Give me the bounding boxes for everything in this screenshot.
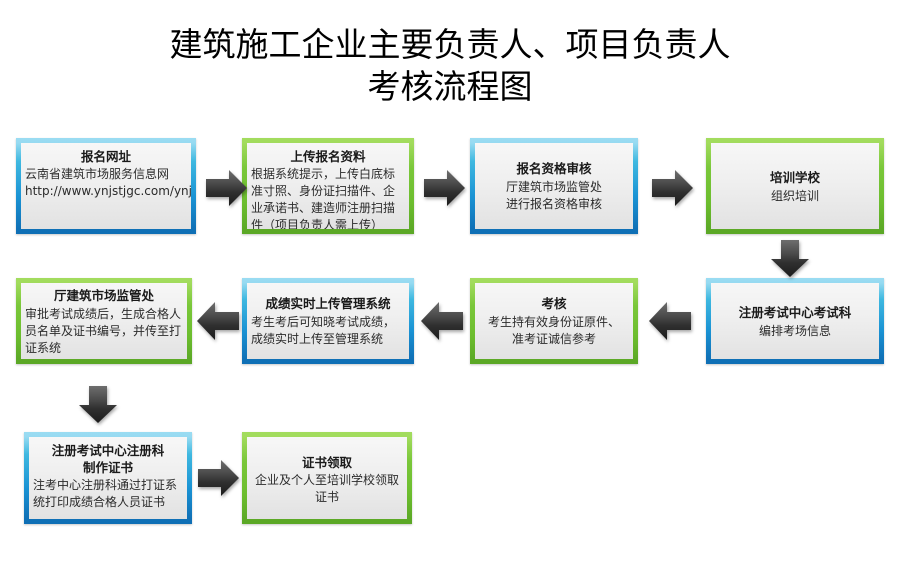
arrow-left-2: [420, 300, 464, 342]
arrow-left-1: [648, 300, 692, 342]
node-exam-center-exam-dept[interactable]: 注册考试中心考试科 编排考场信息: [706, 278, 884, 364]
node-heading: 培训学校: [715, 169, 875, 186]
arrow-left-3: [196, 300, 240, 342]
arrow-down-2: [78, 386, 122, 424]
node-body: 组织培训: [715, 188, 875, 205]
node-heading: 考核: [479, 295, 629, 312]
page-title: 建筑施工企业主要负责人、项目负责人 考核流程图: [0, 24, 900, 108]
node-score-upload-system[interactable]: 成绩实时上传管理系统 考生考后可知晓考试成绩，成绩实时上传至管理系统: [242, 278, 414, 364]
arrow-right-1: [206, 168, 248, 208]
title-line-1: 建筑施工企业主要负责人、项目负责人: [0, 24, 900, 66]
node-certificate-collection[interactable]: 证书领取 企业及个人至培训学校领取证书: [242, 432, 412, 524]
node-heading: 上传报名资料: [251, 148, 405, 165]
node-heading: 注册考试中心注册科 制作证书: [33, 442, 183, 476]
node-body: 考生考后可知晓考试成绩，成绩实时上传至管理系统: [251, 314, 405, 348]
node-market-supervision-dept[interactable]: 厅建筑市场监管处 审批考试成绩后，生成合格人员名单及证书编号，并传至打证系统: [16, 278, 192, 364]
node-heading: 报名网址: [25, 148, 187, 165]
node-body: 厅建筑市场监管处 进行报名资格审核: [479, 179, 629, 213]
node-heading: 报名资格审核: [479, 160, 629, 177]
arrow-right-4: [198, 458, 242, 498]
node-body: 根据系统提示，上传白底标准寸照、身份证扫描件、企业承诺书、建造师注册扫描件（项目…: [251, 166, 405, 234]
flowchart-canvas: 建筑施工企业主要负责人、项目负责人 考核流程图 报名网址 云南省建筑市场服务信息…: [0, 0, 900, 564]
arrow-down-1: [770, 240, 814, 278]
node-body: 编排考场信息: [715, 323, 875, 340]
node-body: 考生持有效身份证原件、 准考证诚信参考: [479, 314, 629, 348]
node-body: 企业及个人至培训学校领取证书: [251, 472, 403, 506]
node-body: 审批考试成绩后，生成合格人员名单及证书编号，并传至打证系统: [25, 306, 183, 357]
title-line-2: 考核流程图: [0, 66, 900, 108]
node-body: 注考中心注册科通过打证系统打印成绩合格人员证书: [33, 477, 183, 511]
node-upload-materials[interactable]: 上传报名资料 根据系统提示，上传白底标准寸照、身份证扫描件、企业承诺书、建造师注…: [242, 138, 414, 234]
arrow-right-3: [652, 168, 694, 208]
arrow-right-2: [424, 168, 466, 208]
node-heading: 厅建筑市场监管处: [25, 287, 183, 304]
node-heading: 成绩实时上传管理系统: [251, 295, 405, 312]
node-assessment[interactable]: 考核 考生持有效身份证原件、 准考证诚信参考: [470, 278, 638, 364]
node-body: 云南省建筑市场服务信息网http://www.ynjstjgc.com/ynjz…: [25, 166, 187, 200]
node-registration-dept-certificate[interactable]: 注册考试中心注册科 制作证书 注考中心注册科通过打证系统打印成绩合格人员证书: [24, 432, 192, 524]
node-heading: 证书领取: [251, 454, 403, 471]
node-qualification-review[interactable]: 报名资格审核 厅建筑市场监管处 进行报名资格审核: [470, 138, 638, 234]
node-training-school[interactable]: 培训学校 组织培训: [706, 138, 884, 234]
node-signup-url[interactable]: 报名网址 云南省建筑市场服务信息网http://www.ynjstjgc.com…: [16, 138, 196, 234]
node-heading: 注册考试中心考试科: [715, 304, 875, 321]
